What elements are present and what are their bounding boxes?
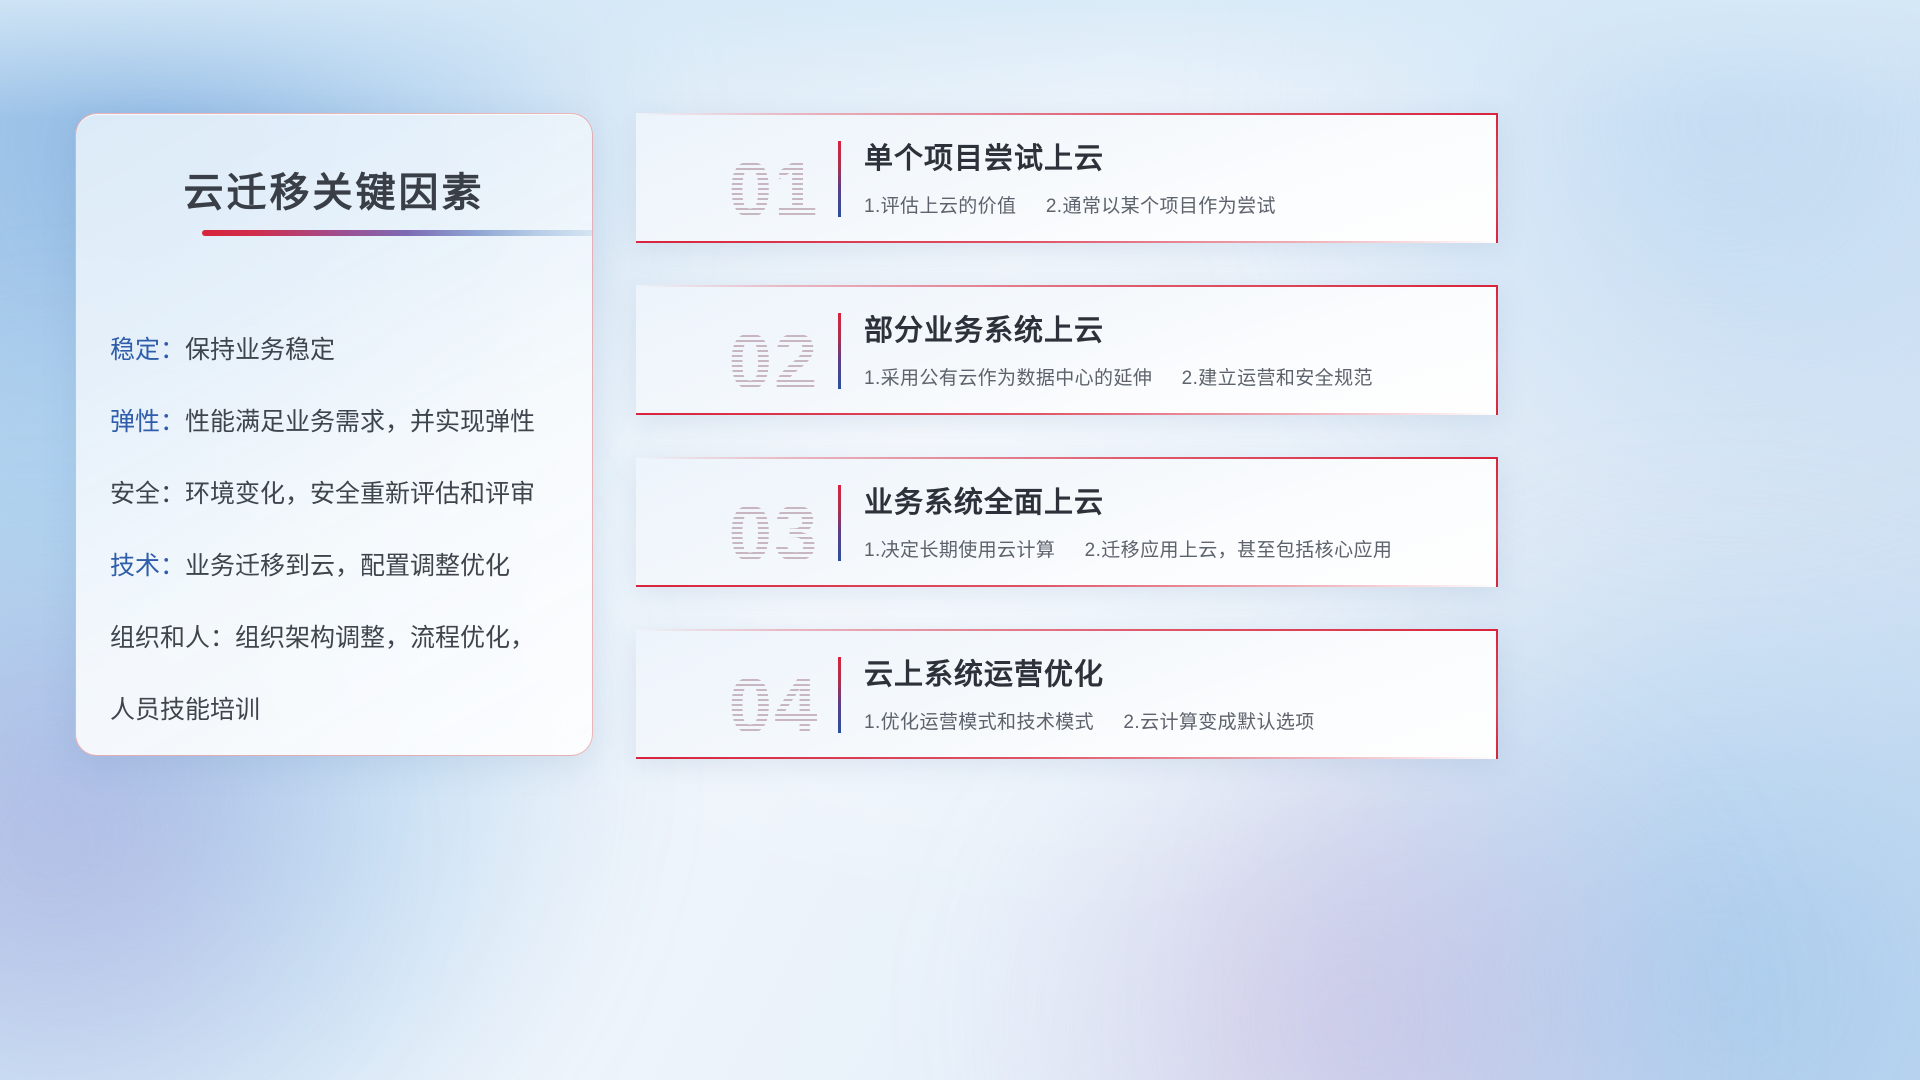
card-right-border [1496,457,1498,587]
card-title: 单个项目尝试上云 [864,135,1468,177]
list-item-text: 业务迁移到云，配置调整优化 [185,552,510,580]
list-item-label: 安全： [110,480,185,508]
card-number-watermark: 03 03 [660,467,840,579]
list-item-text: 人员技能培训 [110,696,260,724]
list-item: 安全：环境变化，安全重新评估和评审 [110,458,572,530]
list-item: 组织和人：组织架构调整，流程优化， [110,602,572,674]
background-top-strip [0,0,1920,120]
page-title: 云迁移关键因素 [76,160,592,218]
card-point-1: 1.采用公有云作为数据中心的延伸 [864,368,1152,389]
card-title: 部分业务系统上云 [864,307,1468,349]
list-item-label: 组织和人： [110,624,235,652]
card-top-border [636,285,1498,287]
list-item: 弹性：性能满足业务需求，并实现弹性 [110,386,572,458]
list-item-label: 技术： [110,552,185,580]
card-title: 云上系统运营优化 [864,651,1468,693]
card-top-border [636,629,1498,631]
card-number-tint: 02 [684,305,864,415]
stage-card[interactable]: 03 03 业务系统全面上云 1.决定长期使用云计算 2.迁移应用上云，甚至包括… [636,457,1498,587]
card-divider-bar [838,141,841,217]
list-item-text: 组织架构调整，流程优化， [235,624,535,652]
card-right-border [1496,629,1498,759]
list-item-label: 稳定： [110,336,185,364]
card-number-watermark: 04 04 [660,639,840,751]
card-point-1: 1.优化运营模式和技术模式 [864,712,1094,733]
card-body: 云上系统运营优化 1.优化运营模式和技术模式 2.云计算变成默认选项 [864,651,1468,734]
card-point-1: 1.决定长期使用云计算 [864,540,1055,561]
stage-card[interactable]: 02 02 部分业务系统上云 1.采用公有云作为数据中心的延伸 2.建立运营和安… [636,285,1498,415]
card-subtitle: 1.评估上云的价值 2.通常以某个项目作为尝试 [864,191,1468,218]
card-point-2: 2.通常以某个项目作为尝试 [1046,196,1276,217]
list-item-text: 性能满足业务需求，并实现弹性 [185,408,535,436]
card-top-border [636,457,1498,459]
list-item: 技术：业务迁移到云，配置调整优化 [110,530,572,602]
card-divider-bar [838,313,841,389]
card-right-border [1496,285,1498,415]
card-right-border [1496,113,1498,243]
card-number-tint: 01 [684,133,864,243]
card-divider-bar [838,485,841,561]
list-item: 稳定：保持业务稳定 [110,314,572,386]
card-number-watermark: 02 02 [660,295,840,407]
card-subtitle: 1.采用公有云作为数据中心的延伸 2.建立运营和安全规范 [864,363,1468,390]
list-item-continuation: 人员技能培训 [110,674,572,746]
card-number-watermark: 01 01 [660,123,840,235]
card-body: 单个项目尝试上云 1.评估上云的价值 2.通常以某个项目作为尝试 [864,135,1468,218]
card-subtitle: 1.优化运营模式和技术模式 2.云计算变成默认选项 [864,707,1468,734]
card-top-border [636,113,1498,115]
stage-cards-list: 01 01 单个项目尝试上云 1.评估上云的价值 2.通常以某个项目作为尝试 0… [636,113,1498,759]
list-item-text: 环境变化，安全重新评估和评审 [185,480,535,508]
card-body: 部分业务系统上云 1.采用公有云作为数据中心的延伸 2.建立运营和安全规范 [864,307,1468,390]
title-underline-rule [202,230,593,236]
stage-card[interactable]: 04 04 云上系统运营优化 1.优化运营模式和技术模式 2.云计算变成默认选项 [636,629,1498,759]
card-point-2: 2.建立运营和安全规范 [1182,368,1373,389]
list-item-label: 弹性： [110,408,185,436]
key-factors-list: 稳定：保持业务稳定 弹性：性能满足业务需求，并实现弹性 安全：环境变化，安全重新… [110,314,572,746]
card-body: 业务系统全面上云 1.决定长期使用云计算 2.迁移应用上云，甚至包括核心应用 [864,479,1468,562]
key-factors-panel: 云迁移关键因素 稳定：保持业务稳定 弹性：性能满足业务需求，并实现弹性 安全：环… [75,113,593,756]
card-divider-bar [838,657,841,733]
card-point-2: 2.迁移应用上云，甚至包括核心应用 [1085,540,1393,561]
list-item-text: 保持业务稳定 [185,336,335,364]
card-point-2: 2.云计算变成默认选项 [1123,712,1314,733]
card-title: 业务系统全面上云 [864,479,1468,521]
card-number-tint: 03 [684,477,864,587]
stage-card[interactable]: 01 01 单个项目尝试上云 1.评估上云的价值 2.通常以某个项目作为尝试 [636,113,1498,243]
card-number-tint: 04 [684,649,864,759]
card-point-1: 1.评估上云的价值 [864,196,1016,217]
card-subtitle: 1.决定长期使用云计算 2.迁移应用上云，甚至包括核心应用 [864,535,1468,562]
